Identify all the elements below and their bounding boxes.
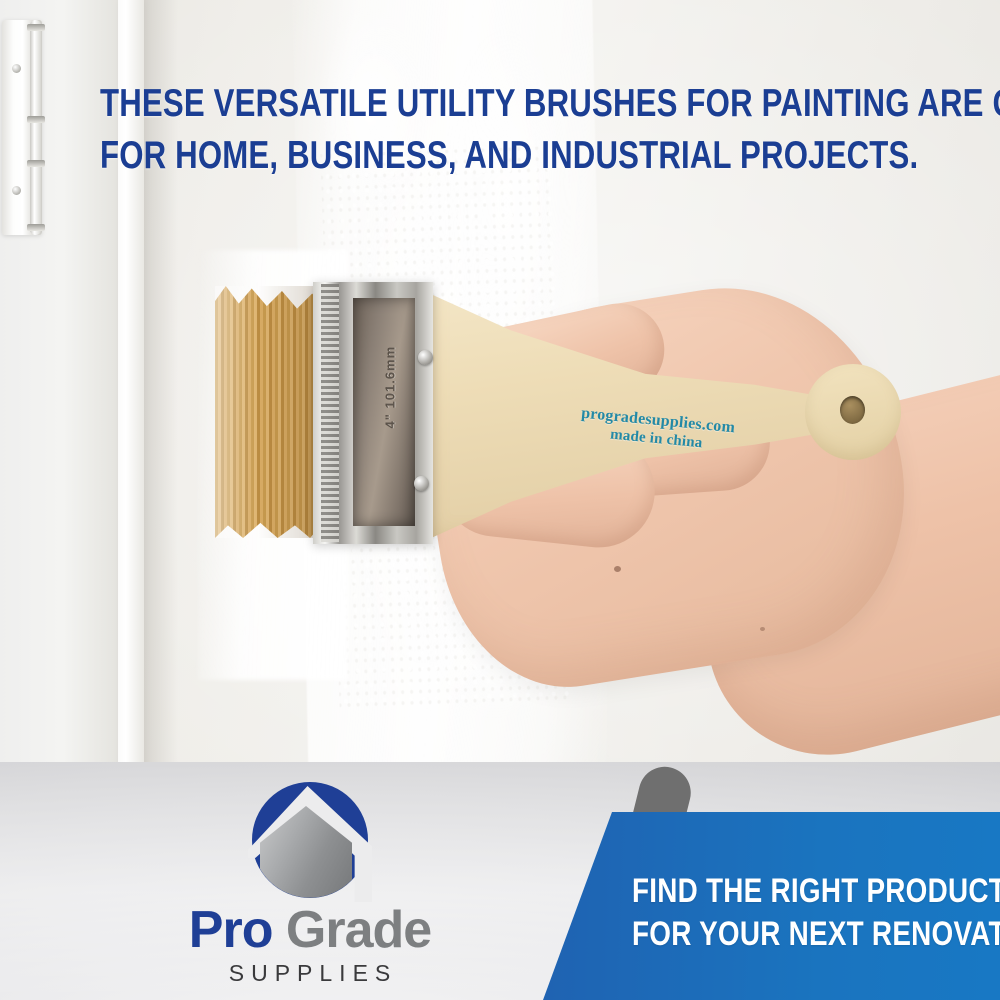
door-hinge-icon <box>2 20 42 235</box>
logo-word-pro: Pro <box>189 901 273 959</box>
logo-word-grade: Grade <box>286 901 431 959</box>
hinge-knuckle <box>27 116 45 123</box>
cta-line-2: FOR YOUR NEXT RENOVATION <box>632 913 927 956</box>
hinge-knuckle <box>27 160 45 167</box>
hinge-pin <box>30 20 41 235</box>
brush-rivet <box>418 350 433 365</box>
paint-brush: progradesupplies.com made in china 4" 10… <box>205 276 845 546</box>
brush-size-marking: 4" 101.6mm <box>383 359 398 429</box>
headline: THESE VERSATILE UTILITY BRUSHES FOR PAIN… <box>100 78 900 183</box>
hinge-screw <box>12 186 21 195</box>
logo-house-circle-icon <box>252 782 368 898</box>
brush-bristles-shading <box>215 286 323 538</box>
logo-tagline: SUPPLIES <box>140 960 480 987</box>
banner-stage: progradesupplies.com made in china 4" 10… <box>0 0 1000 1000</box>
brand-logo[interactable]: Pro Grade SUPPLIES <box>140 782 480 990</box>
brush-hang-hole <box>840 396 865 424</box>
headline-line-2: FOR HOME, BUSINESS, AND INDUSTRIAL PROJE… <box>100 130 900 182</box>
hinge-knuckle <box>27 24 45 31</box>
cta-line-1: FIND THE RIGHT PRODUCT <box>632 870 927 913</box>
brush-ferrule-crimp <box>321 284 339 542</box>
skin-mole <box>614 566 621 572</box>
cta-text: FIND THE RIGHT PRODUCT FOR YOUR NEXT REN… <box>632 870 927 956</box>
brush-rivet <box>414 476 429 491</box>
headline-line-1: THESE VERSATILE UTILITY BRUSHES FOR PAIN… <box>100 78 900 130</box>
logo-wordmark: Pro Grade <box>140 904 480 956</box>
hinge-knuckle <box>27 224 45 231</box>
skin-mole <box>760 627 765 631</box>
hinge-screw <box>12 64 21 73</box>
